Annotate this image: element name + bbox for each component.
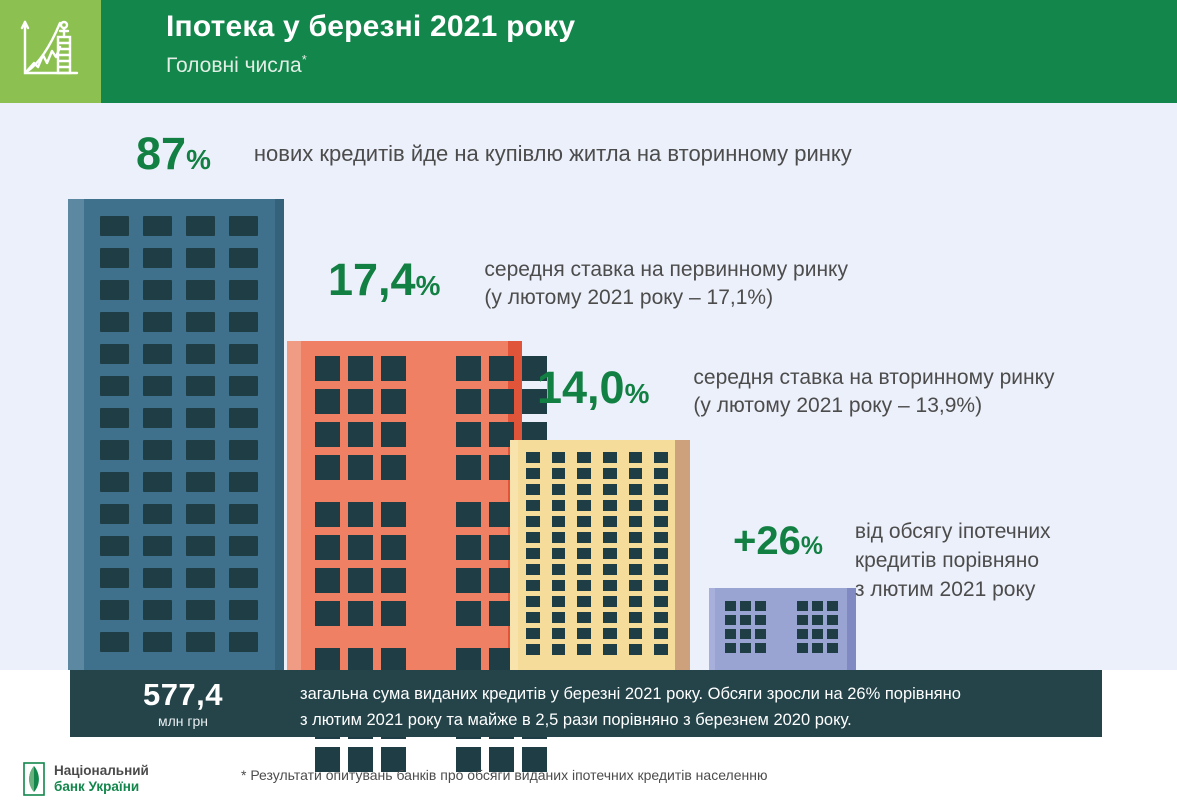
stat-unit: %	[416, 270, 441, 301]
building-window	[526, 468, 540, 479]
building-window	[603, 580, 617, 591]
stat-description-line2: (у лютому 2021 року – 17,1%)	[484, 284, 848, 312]
building-window	[186, 568, 215, 588]
building-window	[348, 535, 373, 560]
building-window	[100, 344, 129, 364]
header-bar: Іпотека у березні 2021 року Головні числ…	[0, 0, 1177, 103]
building-window	[456, 422, 481, 447]
building-window	[381, 502, 406, 527]
building-window	[143, 504, 172, 524]
header-logo-box	[0, 0, 101, 103]
building-window	[552, 596, 566, 607]
building-window	[100, 248, 129, 268]
building-window	[348, 422, 373, 447]
stat-description-line1: середня ставка на первинному ринку	[484, 256, 848, 284]
building-window	[603, 596, 617, 607]
building-window	[229, 600, 258, 620]
building-window	[797, 615, 808, 625]
building-window	[143, 312, 172, 332]
building-window	[526, 500, 540, 511]
building-window	[552, 532, 566, 543]
building-window	[348, 502, 373, 527]
building-window	[654, 516, 668, 527]
building-window	[577, 564, 591, 575]
building-window-grid	[526, 452, 668, 660]
building-window	[489, 389, 514, 414]
building-window	[143, 376, 172, 396]
stat-description: середня ставка на первинному ринку (у лю…	[484, 256, 848, 312]
building-window	[229, 280, 258, 300]
building-window-block	[315, 502, 494, 626]
building-window	[229, 408, 258, 428]
building-window	[186, 280, 215, 300]
building-window	[229, 344, 258, 364]
building-window	[229, 568, 258, 588]
building-right-edge	[275, 199, 284, 670]
building-window	[348, 389, 373, 414]
subtitle-asterisk: *	[302, 52, 307, 67]
building-window	[186, 248, 215, 268]
building-window	[100, 280, 129, 300]
building-window	[603, 452, 617, 463]
building-window	[315, 502, 340, 527]
building-window	[414, 389, 448, 414]
building-window	[229, 472, 258, 492]
total-amount-bar: 577,4 млн грн загальна сума виданих кред…	[70, 670, 1102, 737]
building-window	[143, 472, 172, 492]
building-window	[526, 548, 540, 559]
building-window	[229, 536, 258, 556]
building-window	[229, 312, 258, 332]
building-window	[526, 596, 540, 607]
stat-number: +26%	[733, 516, 823, 572]
building-window-grid	[725, 601, 838, 658]
stat-description: нових кредитів йде на купівлю житла на в…	[254, 131, 852, 177]
building-window	[526, 580, 540, 591]
building-window	[552, 468, 566, 479]
building-window	[740, 629, 751, 639]
stat-description-line1: середня ставка на вторинному ринку	[693, 364, 1054, 392]
stat-number: 17,4%	[328, 252, 440, 314]
building-window	[100, 408, 129, 428]
building-window	[654, 596, 668, 607]
building-left-edge	[287, 341, 301, 670]
building-window	[186, 600, 215, 620]
stat-description-line1: нових кредитів йде на купівлю житла на в…	[254, 131, 852, 177]
building-window	[186, 344, 215, 364]
building-window	[812, 629, 823, 639]
building-window	[577, 612, 591, 623]
stat-description-line2: (у лютому 2021 року – 13,9%)	[693, 392, 1054, 420]
building-window	[577, 580, 591, 591]
building-window	[629, 484, 643, 495]
building-window	[456, 601, 481, 626]
stat-description-line3: з лютим 2021 року	[855, 575, 1051, 604]
infographic-page: Іпотека у березні 2021 року Головні числ…	[0, 0, 1177, 803]
building-window	[654, 612, 668, 623]
building-window	[315, 601, 340, 626]
building-window	[629, 628, 643, 639]
building-window	[143, 632, 172, 652]
building-window	[381, 601, 406, 626]
building-window	[143, 568, 172, 588]
page-subtitle: Головні числа*	[166, 46, 575, 80]
building-window	[489, 356, 514, 381]
building-tall-tower	[68, 199, 284, 670]
total-amount-value: 577,4	[100, 678, 266, 712]
building-window	[629, 644, 643, 655]
building-window	[381, 389, 406, 414]
building-window	[603, 532, 617, 543]
building-window	[143, 216, 172, 236]
building-window	[629, 564, 643, 575]
building-left-edge	[510, 440, 518, 670]
building-window	[552, 612, 566, 623]
building-window	[603, 628, 617, 639]
nbu-leaf-icon	[23, 762, 45, 796]
building-window	[315, 356, 340, 381]
building-window-block	[725, 601, 766, 658]
building-window	[827, 643, 838, 653]
stat-number: 87%	[136, 131, 211, 183]
building-window	[414, 455, 448, 480]
nbu-logo-text: Національний банк України	[54, 763, 149, 795]
stat-unit: %	[186, 144, 211, 175]
building-window	[797, 643, 808, 653]
building-window	[812, 643, 823, 653]
building-window	[577, 468, 591, 479]
stat-volume-growth: +26% від обсягу іпотечних кредитів порів…	[733, 516, 1051, 604]
building-left-edge	[68, 199, 84, 670]
building-window	[552, 500, 566, 511]
building-window	[629, 516, 643, 527]
building-window	[603, 644, 617, 655]
building-window	[143, 408, 172, 428]
building-window	[577, 516, 591, 527]
building-window	[456, 535, 481, 560]
building-window	[456, 568, 481, 593]
building-window-block	[315, 356, 494, 480]
building-window	[552, 564, 566, 575]
total-amount-description-line2: з лютим 2021 року та майже в 2,5 рази по…	[300, 707, 1088, 733]
stat-rate-primary-market: 17,4% середня ставка на первинному ринку…	[328, 252, 848, 314]
building-right-edge	[675, 440, 690, 670]
building-window	[348, 568, 373, 593]
building-window	[186, 216, 215, 236]
building-window	[654, 452, 668, 463]
building-window	[577, 644, 591, 655]
growth-chart-ladder-icon	[20, 17, 82, 86]
building-window	[315, 455, 340, 480]
building-window	[725, 629, 736, 639]
building-window	[629, 596, 643, 607]
building-window	[654, 468, 668, 479]
building-window	[725, 643, 736, 653]
building-window	[315, 535, 340, 560]
building-window	[100, 504, 129, 524]
building-window	[654, 628, 668, 639]
building-window	[315, 389, 340, 414]
building-window	[186, 632, 215, 652]
building-window	[603, 516, 617, 527]
building-window	[414, 601, 448, 626]
nbu-logo-line1: Національний	[54, 763, 149, 778]
building-window	[315, 422, 340, 447]
building-window	[740, 643, 751, 653]
building-window	[755, 615, 766, 625]
stat-share-secondary-market: 87% нових кредитів йде на купівлю житла …	[136, 131, 852, 183]
building-window	[629, 500, 643, 511]
building-window	[827, 629, 838, 639]
building-window	[100, 376, 129, 396]
building-window	[143, 248, 172, 268]
building-window	[755, 643, 766, 653]
stat-value: 87	[136, 128, 186, 179]
building-window	[456, 502, 481, 527]
building-window	[186, 312, 215, 332]
building-window	[315, 568, 340, 593]
building-window	[100, 312, 129, 332]
building-window	[654, 564, 668, 575]
building-window	[577, 548, 591, 559]
building-window	[552, 580, 566, 591]
building-window	[186, 376, 215, 396]
total-amount-group: 577,4 млн грн	[100, 678, 266, 730]
building-window	[348, 601, 373, 626]
building-window	[456, 356, 481, 381]
building-window	[143, 600, 172, 620]
building-window	[629, 548, 643, 559]
building-window	[414, 502, 448, 527]
building-window	[740, 615, 751, 625]
stat-rate-secondary-market: 14,0% середня ставка на вторинному ринку…	[537, 360, 1055, 422]
building-window	[603, 612, 617, 623]
building-window	[186, 536, 215, 556]
building-window	[186, 472, 215, 492]
building-window	[143, 536, 172, 556]
building-window	[186, 408, 215, 428]
total-amount-description-line1: загальна сума виданих кредитів у березні…	[300, 681, 1088, 707]
building-window	[577, 484, 591, 495]
building-window-grid	[315, 356, 494, 644]
page-subtitle-text: Головні числа	[166, 54, 302, 77]
building-window	[526, 516, 540, 527]
building-window	[827, 615, 838, 625]
building-window	[603, 468, 617, 479]
building-window	[229, 376, 258, 396]
building-window	[348, 455, 373, 480]
building-window	[381, 356, 406, 381]
building-window	[577, 500, 591, 511]
building-window	[526, 612, 540, 623]
stat-description-line2: кредитів порівняно	[855, 546, 1051, 575]
building-window	[414, 535, 448, 560]
stat-description-line1: від обсягу іпотечних	[855, 517, 1051, 546]
building-window	[100, 600, 129, 620]
building-window	[229, 504, 258, 524]
stat-value: +26	[733, 519, 801, 563]
building-window	[603, 500, 617, 511]
building-window	[654, 500, 668, 511]
building-window	[229, 248, 258, 268]
building-red-block	[287, 341, 522, 670]
building-window	[552, 548, 566, 559]
building-window	[629, 468, 643, 479]
building-window	[552, 516, 566, 527]
building-window	[577, 628, 591, 639]
building-window	[381, 535, 406, 560]
building-window	[100, 216, 129, 236]
building-window	[654, 548, 668, 559]
building-window	[629, 612, 643, 623]
stat-value: 17,4	[328, 254, 416, 305]
building-left-edge	[709, 588, 715, 670]
building-window	[526, 484, 540, 495]
building-window	[414, 422, 448, 447]
building-window	[725, 615, 736, 625]
building-window	[552, 644, 566, 655]
building-window	[229, 216, 258, 236]
building-window	[186, 504, 215, 524]
building-window	[100, 632, 129, 652]
stat-number: 14,0%	[537, 360, 649, 422]
building-window	[381, 455, 406, 480]
building-window	[577, 452, 591, 463]
building-yellow-block	[510, 440, 690, 670]
building-window	[629, 452, 643, 463]
building-window	[577, 532, 591, 543]
building-window	[654, 644, 668, 655]
building-window	[100, 536, 129, 556]
building-window	[603, 564, 617, 575]
building-window	[654, 484, 668, 495]
total-amount-description: загальна сума виданих кредитів у березні…	[300, 681, 1088, 733]
building-window	[577, 596, 591, 607]
building-window	[603, 548, 617, 559]
building-window	[755, 629, 766, 639]
stat-value: 14,0	[537, 362, 625, 413]
building-window	[381, 422, 406, 447]
stat-description: середня ставка на вторинному ринку (у лю…	[693, 364, 1054, 420]
building-window	[552, 484, 566, 495]
building-window	[348, 356, 373, 381]
building-window	[100, 440, 129, 460]
building-window	[414, 356, 448, 381]
nbu-logo-line2: банк України	[54, 779, 139, 794]
building-window	[143, 280, 172, 300]
building-window	[456, 389, 481, 414]
stat-unit: %	[801, 533, 823, 560]
building-window	[526, 628, 540, 639]
footnote: * Результати опитувань банків про обсяги…	[241, 765, 767, 785]
building-window	[603, 484, 617, 495]
building-window	[812, 615, 823, 625]
building-window	[526, 532, 540, 543]
building-window	[654, 532, 668, 543]
building-window	[100, 568, 129, 588]
building-window	[143, 440, 172, 460]
building-window	[526, 564, 540, 575]
building-window	[629, 580, 643, 591]
stat-unit: %	[625, 378, 650, 409]
header-text-group: Іпотека у березні 2021 року Головні числ…	[166, 8, 575, 80]
building-window	[381, 568, 406, 593]
building-window	[526, 452, 540, 463]
building-window	[229, 440, 258, 460]
page-title: Іпотека у березні 2021 року	[166, 8, 575, 46]
building-window	[143, 344, 172, 364]
building-window	[797, 629, 808, 639]
building-window	[654, 580, 668, 591]
nbu-logo: Національний банк України	[23, 762, 149, 796]
building-window	[552, 452, 566, 463]
building-window	[229, 632, 258, 652]
building-window	[456, 455, 481, 480]
building-window-grid	[100, 216, 258, 664]
total-amount-unit: млн грн	[100, 712, 266, 730]
building-window	[629, 532, 643, 543]
building-window	[100, 472, 129, 492]
building-window	[414, 568, 448, 593]
building-window-block	[797, 601, 838, 658]
stat-description: від обсягу іпотечних кредитів порівняно …	[855, 517, 1051, 604]
building-window	[186, 440, 215, 460]
building-window	[552, 628, 566, 639]
building-window	[526, 644, 540, 655]
